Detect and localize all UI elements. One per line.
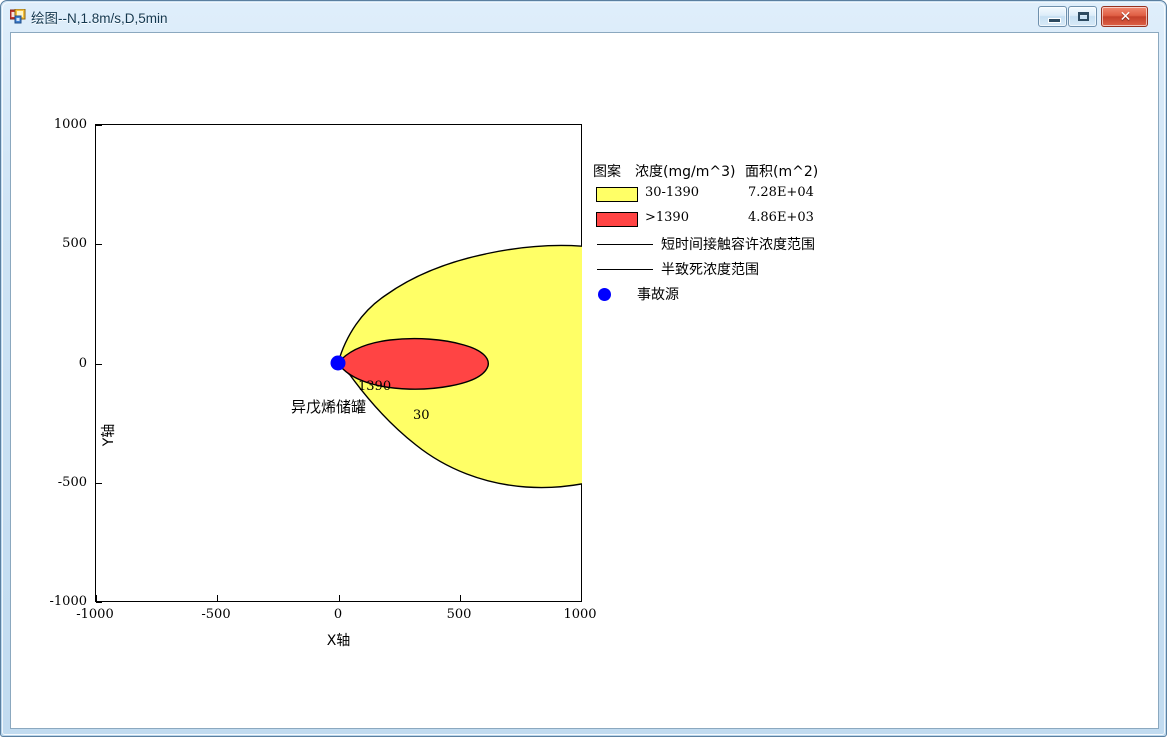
legend-row-line-lc50: 半致死浓度范围 (593, 258, 893, 283)
legend-header: 图案 浓度(mg/m^3) 面积(m^2) (593, 161, 893, 183)
minimize-icon (1048, 18, 1061, 23)
source-dot-icon (598, 288, 611, 301)
application-window: 绘图--N,1.8m/s,D,5min ✕ (0, 0, 1167, 737)
legend-area-red: 4.86E+03 (748, 210, 814, 225)
y-tick-label-m500: -500 (27, 475, 87, 490)
y-tick-label-500: 500 (27, 236, 87, 251)
maximize-icon (1078, 12, 1089, 21)
contour-label-1390: 1390 (358, 379, 391, 394)
red-swatch-icon (596, 212, 638, 227)
dispersion-plume-graphic (95, 124, 582, 602)
legend-header-pattern: 图案 (593, 161, 621, 181)
legend-range-yellow: 30-1390 (645, 185, 699, 200)
contour-label-30: 30 (413, 408, 430, 423)
window-title: 绘图--N,1.8m/s,D,5min (31, 7, 168, 27)
legend-area-yellow: 7.28E+04 (748, 185, 814, 200)
plot-root: Y轴 1000 500 0 -500 -1000 -1000 -500 0 50… (11, 33, 1158, 728)
winforms-app-icon (10, 9, 26, 24)
legend-range-red: >1390 (645, 210, 689, 225)
x-axis-title: X轴 (95, 630, 582, 650)
legend-header-area: 面积(m^2) (745, 161, 818, 181)
legend-label-stel: 短时间接触容许浓度范围 (661, 234, 815, 254)
legend-row-source: 事故源 (593, 283, 893, 308)
y-tick-m1000 (96, 602, 102, 603)
close-button[interactable]: ✕ (1101, 6, 1148, 27)
legend-row-band-yellow: 30-1390 7.28E+04 (593, 183, 893, 208)
line-sample-icon-lc50 (597, 269, 653, 270)
plot-canvas: Y轴 1000 500 0 -500 -1000 -1000 -500 0 50… (10, 32, 1159, 729)
x-tick-label-0: 0 (298, 607, 378, 622)
yellow-swatch-icon (596, 187, 638, 202)
maximize-button[interactable] (1068, 6, 1097, 27)
legend-label-source: 事故源 (637, 284, 679, 304)
source-site-label: 异戊烯储罐 (291, 396, 366, 417)
close-icon: ✕ (1102, 7, 1149, 26)
x-tick-label-m500: -500 (176, 607, 256, 622)
legend: 图案 浓度(mg/m^3) 面积(m^2) 30-1390 7.28E+04 >… (593, 161, 893, 308)
y-tick-label-0: 0 (27, 356, 87, 371)
x-tick-label-1000: 1000 (540, 607, 620, 622)
legend-label-lc50: 半致死浓度范围 (661, 259, 759, 279)
y-tick-label-1000: 1000 (27, 117, 87, 132)
legend-row-line-stel: 短时间接触容许浓度范围 (593, 233, 893, 258)
legend-header-concentration: 浓度(mg/m^3) (635, 161, 735, 181)
source-dot (331, 356, 346, 371)
line-sample-icon-stel (597, 244, 653, 245)
x-tick-label-m1000: -1000 (55, 607, 135, 622)
x-tick-label-500: 500 (419, 607, 499, 622)
minimize-button[interactable] (1038, 6, 1067, 27)
title-bar[interactable]: 绘图--N,1.8m/s,D,5min ✕ (1, 1, 1167, 31)
plume-layer: 异戊烯储罐 30 1390 (95, 124, 582, 602)
legend-row-band-red: >1390 4.86E+03 (593, 208, 893, 233)
